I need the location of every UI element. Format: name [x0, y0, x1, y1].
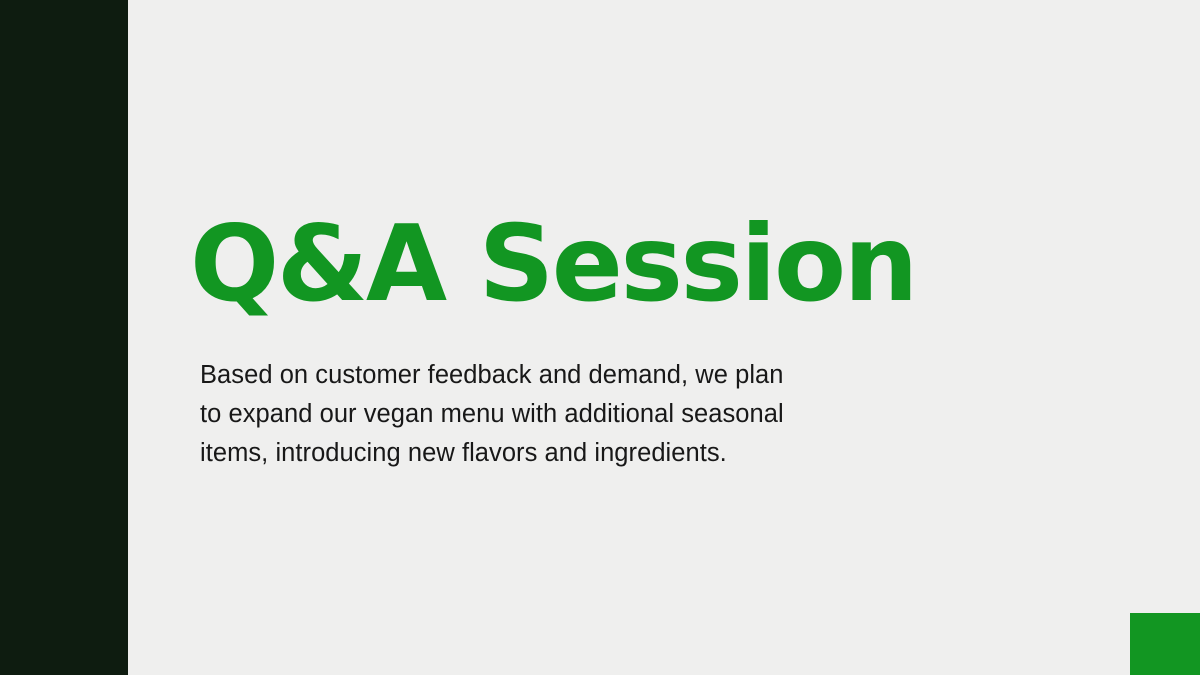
body-line-1: Based on customer feedback and demand, w…	[200, 356, 880, 395]
slide-content: Q&A Session Based on customer feedback a…	[190, 0, 1090, 675]
body-line-2: to expand our vegan menu with additional…	[200, 395, 880, 434]
left-sidebar-band	[0, 0, 128, 675]
slide-canvas: Q&A Session Based on customer feedback a…	[0, 0, 1200, 675]
body-line-3: items, introducing new flavors and ingre…	[200, 434, 880, 473]
corner-accent-square	[1130, 613, 1200, 675]
page-title: Q&A Session	[190, 204, 916, 324]
slide-body-paragraph: Based on customer feedback and demand, w…	[200, 356, 880, 473]
